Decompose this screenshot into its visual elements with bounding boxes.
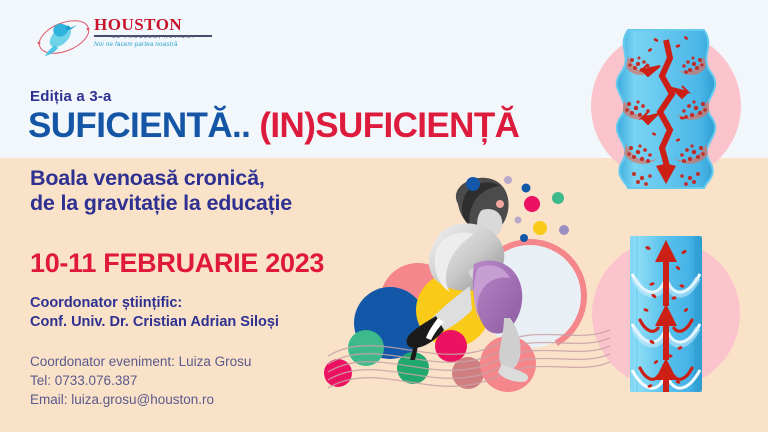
logo-tagline: NO PROBLEM, ACTION! [94, 34, 212, 39]
contact-phone: Tel: 0733.076.387 [30, 371, 251, 390]
dot-blue-small [522, 184, 531, 193]
event-date: 10-11 FEBRUARIE 2023 [30, 248, 324, 279]
dot-green [552, 192, 564, 204]
scientific-coordinator: Coordonator științific: Conf. Univ. Dr. … [30, 294, 279, 332]
conference-poster: HOUSTON NO PROBLEM, ACTION! Noi ne facem… [0, 0, 768, 432]
subtitle-line-2: de la gravitație la educație [30, 191, 292, 216]
dot-purple [559, 225, 569, 235]
logo-wordmark: HOUSTON NO PROBLEM, ACTION! Noi ne facem… [94, 16, 216, 48]
title-part-blue: SUFICIENTĂ.. [28, 106, 250, 145]
subtitle-line-1: Boala venoasă cronică, [30, 166, 292, 191]
edition-label: Ediția a 3-a [30, 88, 112, 105]
houston-logo[interactable]: HOUSTON NO PROBLEM, ACTION! Noi ne facem… [36, 14, 216, 60]
hummingbird-icon [36, 16, 92, 58]
collage-circle-magenta [435, 330, 467, 362]
subtitle: Boala venoasă cronică, de la gravitație … [30, 166, 292, 216]
dot-lilac [504, 176, 512, 184]
dot-magenta [524, 196, 540, 212]
logo-brand-name: HOUSTON [94, 16, 216, 34]
title-part-red: (IN)SUFICIENȚĂ [259, 106, 519, 145]
page-title: SUFICIENTĂ.. (IN)SUFICIENȚĂ [28, 106, 519, 146]
dot-salmon [496, 200, 504, 208]
event-coordinator: Coordonator eveniment: Luiza Grosu [30, 352, 251, 371]
dot-blue-tiny [520, 234, 528, 242]
woman-holding-leg-collage [318, 168, 618, 408]
contact-block: Coordonator eveniment: Luiza Grosu Tel: … [30, 352, 251, 409]
dot-lilac-2 [515, 217, 522, 224]
scientific-coordinator-label: Coordonator științific: [30, 294, 279, 313]
logo-slogan: Noi ne facem partea noastră [94, 41, 216, 48]
dot-blue-large [466, 177, 480, 191]
dot-yellow [533, 221, 547, 235]
collage-svg [318, 168, 618, 408]
contact-email[interactable]: Email: luiza.grosu@houston.ro [30, 390, 251, 409]
collage-circle-teal [348, 330, 384, 366]
scientific-coordinator-name: Conf. Univ. Dr. Cristian Adrian Siloși [30, 313, 279, 332]
